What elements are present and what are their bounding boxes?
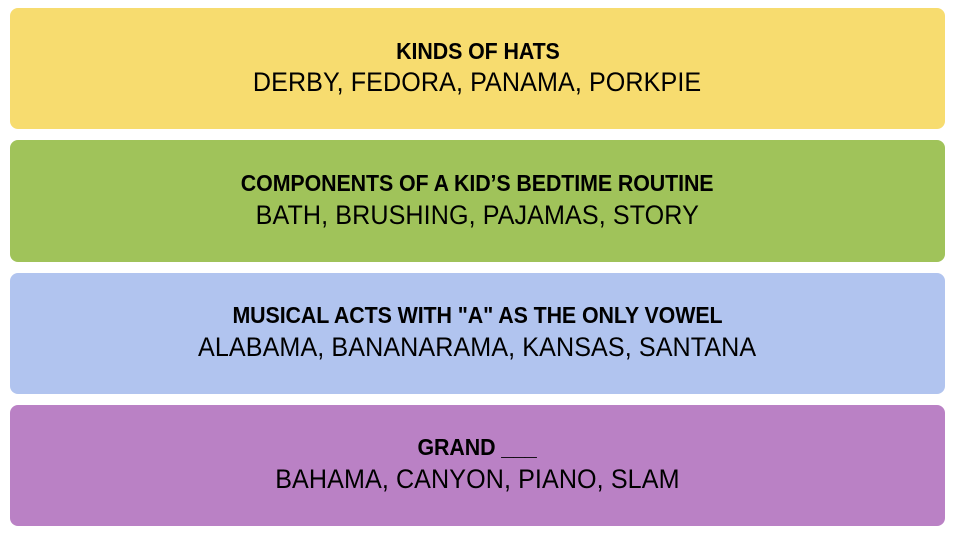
group-card-blue[interactable]: MUSICAL ACTS WITH "A" AS THE ONLY VOWEL … [10,273,945,394]
group-title: MUSICAL ACTS WITH "A" AS THE ONLY VOWEL [232,303,722,329]
group-title: KINDS OF HATS [396,39,560,65]
group-card-yellow[interactable]: KINDS OF HATS DERBY, FEDORA, PANAMA, POR… [10,8,945,129]
connections-solved-board: KINDS OF HATS DERBY, FEDORA, PANAMA, POR… [0,0,961,537]
group-title: COMPONENTS OF A KID’S BEDTIME ROUTINE [241,171,714,197]
group-members: BATH, BRUSHING, PAJAMAS, STORY [256,199,699,231]
group-card-green[interactable]: COMPONENTS OF A KID’S BEDTIME ROUTINE BA… [10,140,945,261]
group-members: DERBY, FEDORA, PANAMA, PORKPIE [253,66,701,98]
group-members: BAHAMA, CANYON, PIANO, SLAM [275,463,679,495]
group-members: ALABAMA, BANANARAMA, KANSAS, SANTANA [198,331,756,363]
group-title: GRAND ___ [418,435,537,461]
group-card-purple[interactable]: GRAND ___ BAHAMA, CANYON, PIANO, SLAM [10,405,945,526]
